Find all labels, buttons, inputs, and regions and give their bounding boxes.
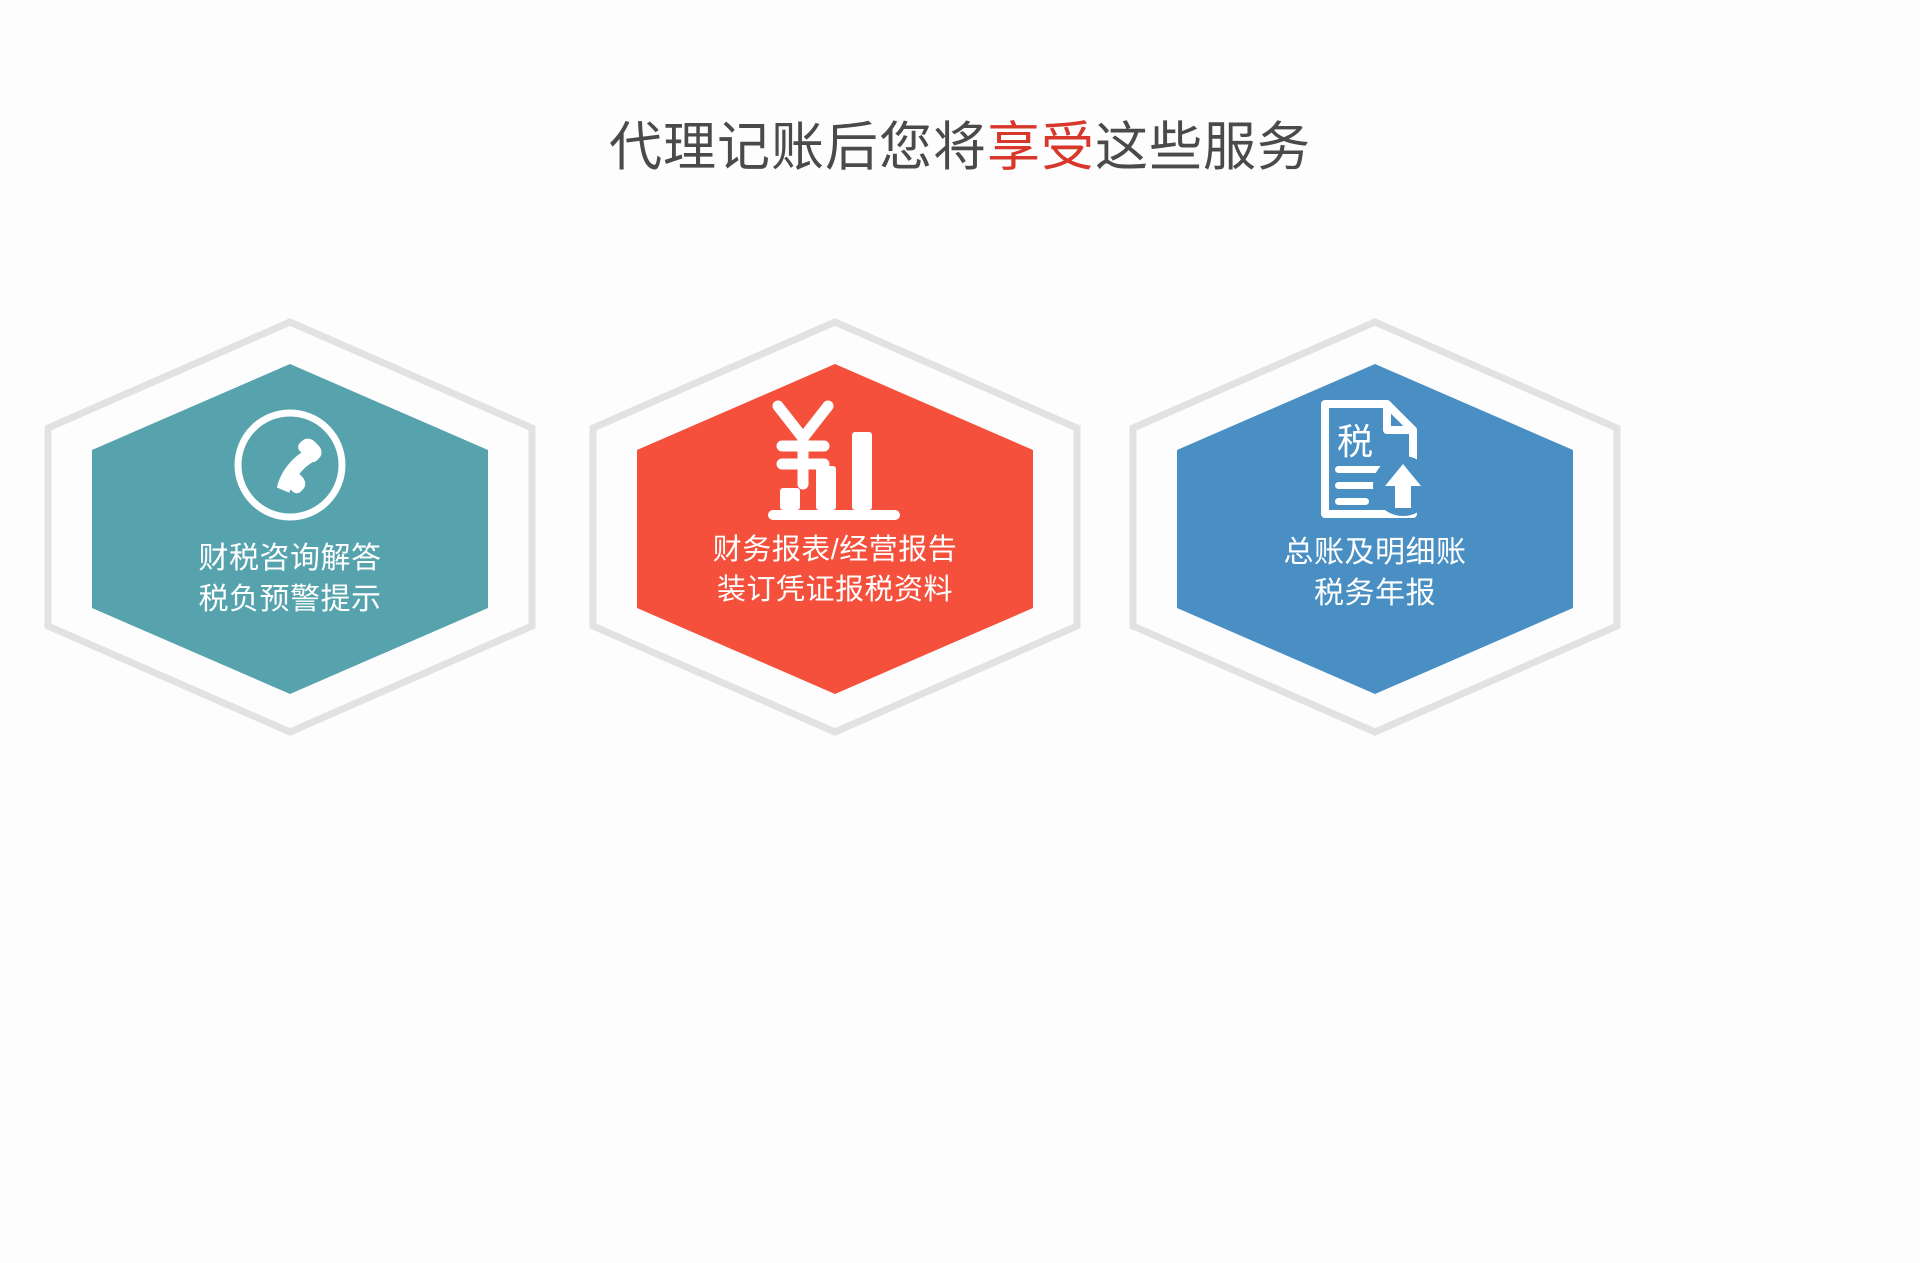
- service-card-financial-statements[interactable]: 财务报表/经营报告 装订凭证报税资料: [585, 318, 1085, 736]
- page-title-prefix: 代理记账后您将: [609, 118, 987, 177]
- service-card-row: 财税咨询解答 税负预警提示: [0, 318, 1920, 738]
- hexagon-fill: [637, 364, 1033, 694]
- page-root: 代理记账后您将享受这些服务: [0, 0, 1920, 1263]
- hexagon-fill: [1177, 364, 1573, 694]
- page-title-wrap: 代理记账后您将享受这些服务: [0, 82, 1920, 213]
- service-card-finance-tax-consulting[interactable]: 财税咨询解答 税负预警提示: [40, 318, 540, 736]
- service-card-ledger-annual-report[interactable]: 税 总账及明细账 税务年报: [1125, 318, 1625, 736]
- hexagon-fill: [92, 364, 488, 694]
- page-title-suffix: 这些服务: [1095, 118, 1311, 177]
- page-title-highlight: 享受: [987, 118, 1095, 177]
- page-title: 代理记账后您将享受这些服务: [609, 118, 1311, 178]
